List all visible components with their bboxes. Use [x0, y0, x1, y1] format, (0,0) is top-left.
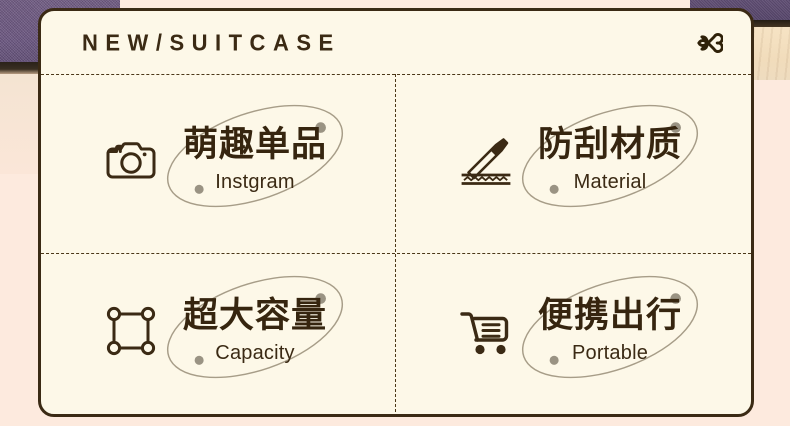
feature-title-cn: 便携出行 — [538, 297, 682, 336]
shopping-cart-icon — [454, 299, 518, 363]
feature-title-cn: 超大容量 — [183, 297, 327, 336]
feature-text-capacity: 超大容量 Capacity — [183, 297, 327, 365]
feature-item-capacity[interactable]: 超大容量 Capacity — [41, 246, 396, 418]
feature-grid: 萌趣单品 Instgram 防刮 — [41, 74, 751, 417]
clover-knot-icon — [693, 28, 723, 58]
page-title: NEW/SUITCASE — [82, 29, 341, 56]
feature-title-cn: 萌趣单品 — [183, 126, 327, 165]
feature-title-en: Instgram — [215, 171, 294, 194]
feature-text-instgram: 萌趣单品 Instgram — [183, 126, 327, 194]
card-header: NEW/SUITCASE — [41, 11, 751, 74]
feature-item-instgram[interactable]: 萌趣单品 Instgram — [41, 74, 396, 246]
feature-text-material: 防刮材质 Material — [538, 126, 682, 194]
feature-title-en: Capacity — [215, 342, 294, 365]
expand-square-icon — [99, 299, 163, 363]
feature-item-material[interactable]: 防刮材质 Material — [396, 74, 751, 246]
feature-title-cn: 防刮材质 — [538, 126, 682, 165]
feature-card: NEW/SUITCASE — [38, 8, 754, 417]
feature-title-en: Portable — [572, 342, 648, 365]
knife-scratch-icon — [454, 128, 518, 192]
feature-title-en: Material — [574, 171, 647, 194]
feature-item-portable[interactable]: 便携出行 Portable — [396, 246, 751, 418]
feature-text-portable: 便携出行 Portable — [538, 297, 682, 365]
camera-icon — [99, 128, 163, 192]
